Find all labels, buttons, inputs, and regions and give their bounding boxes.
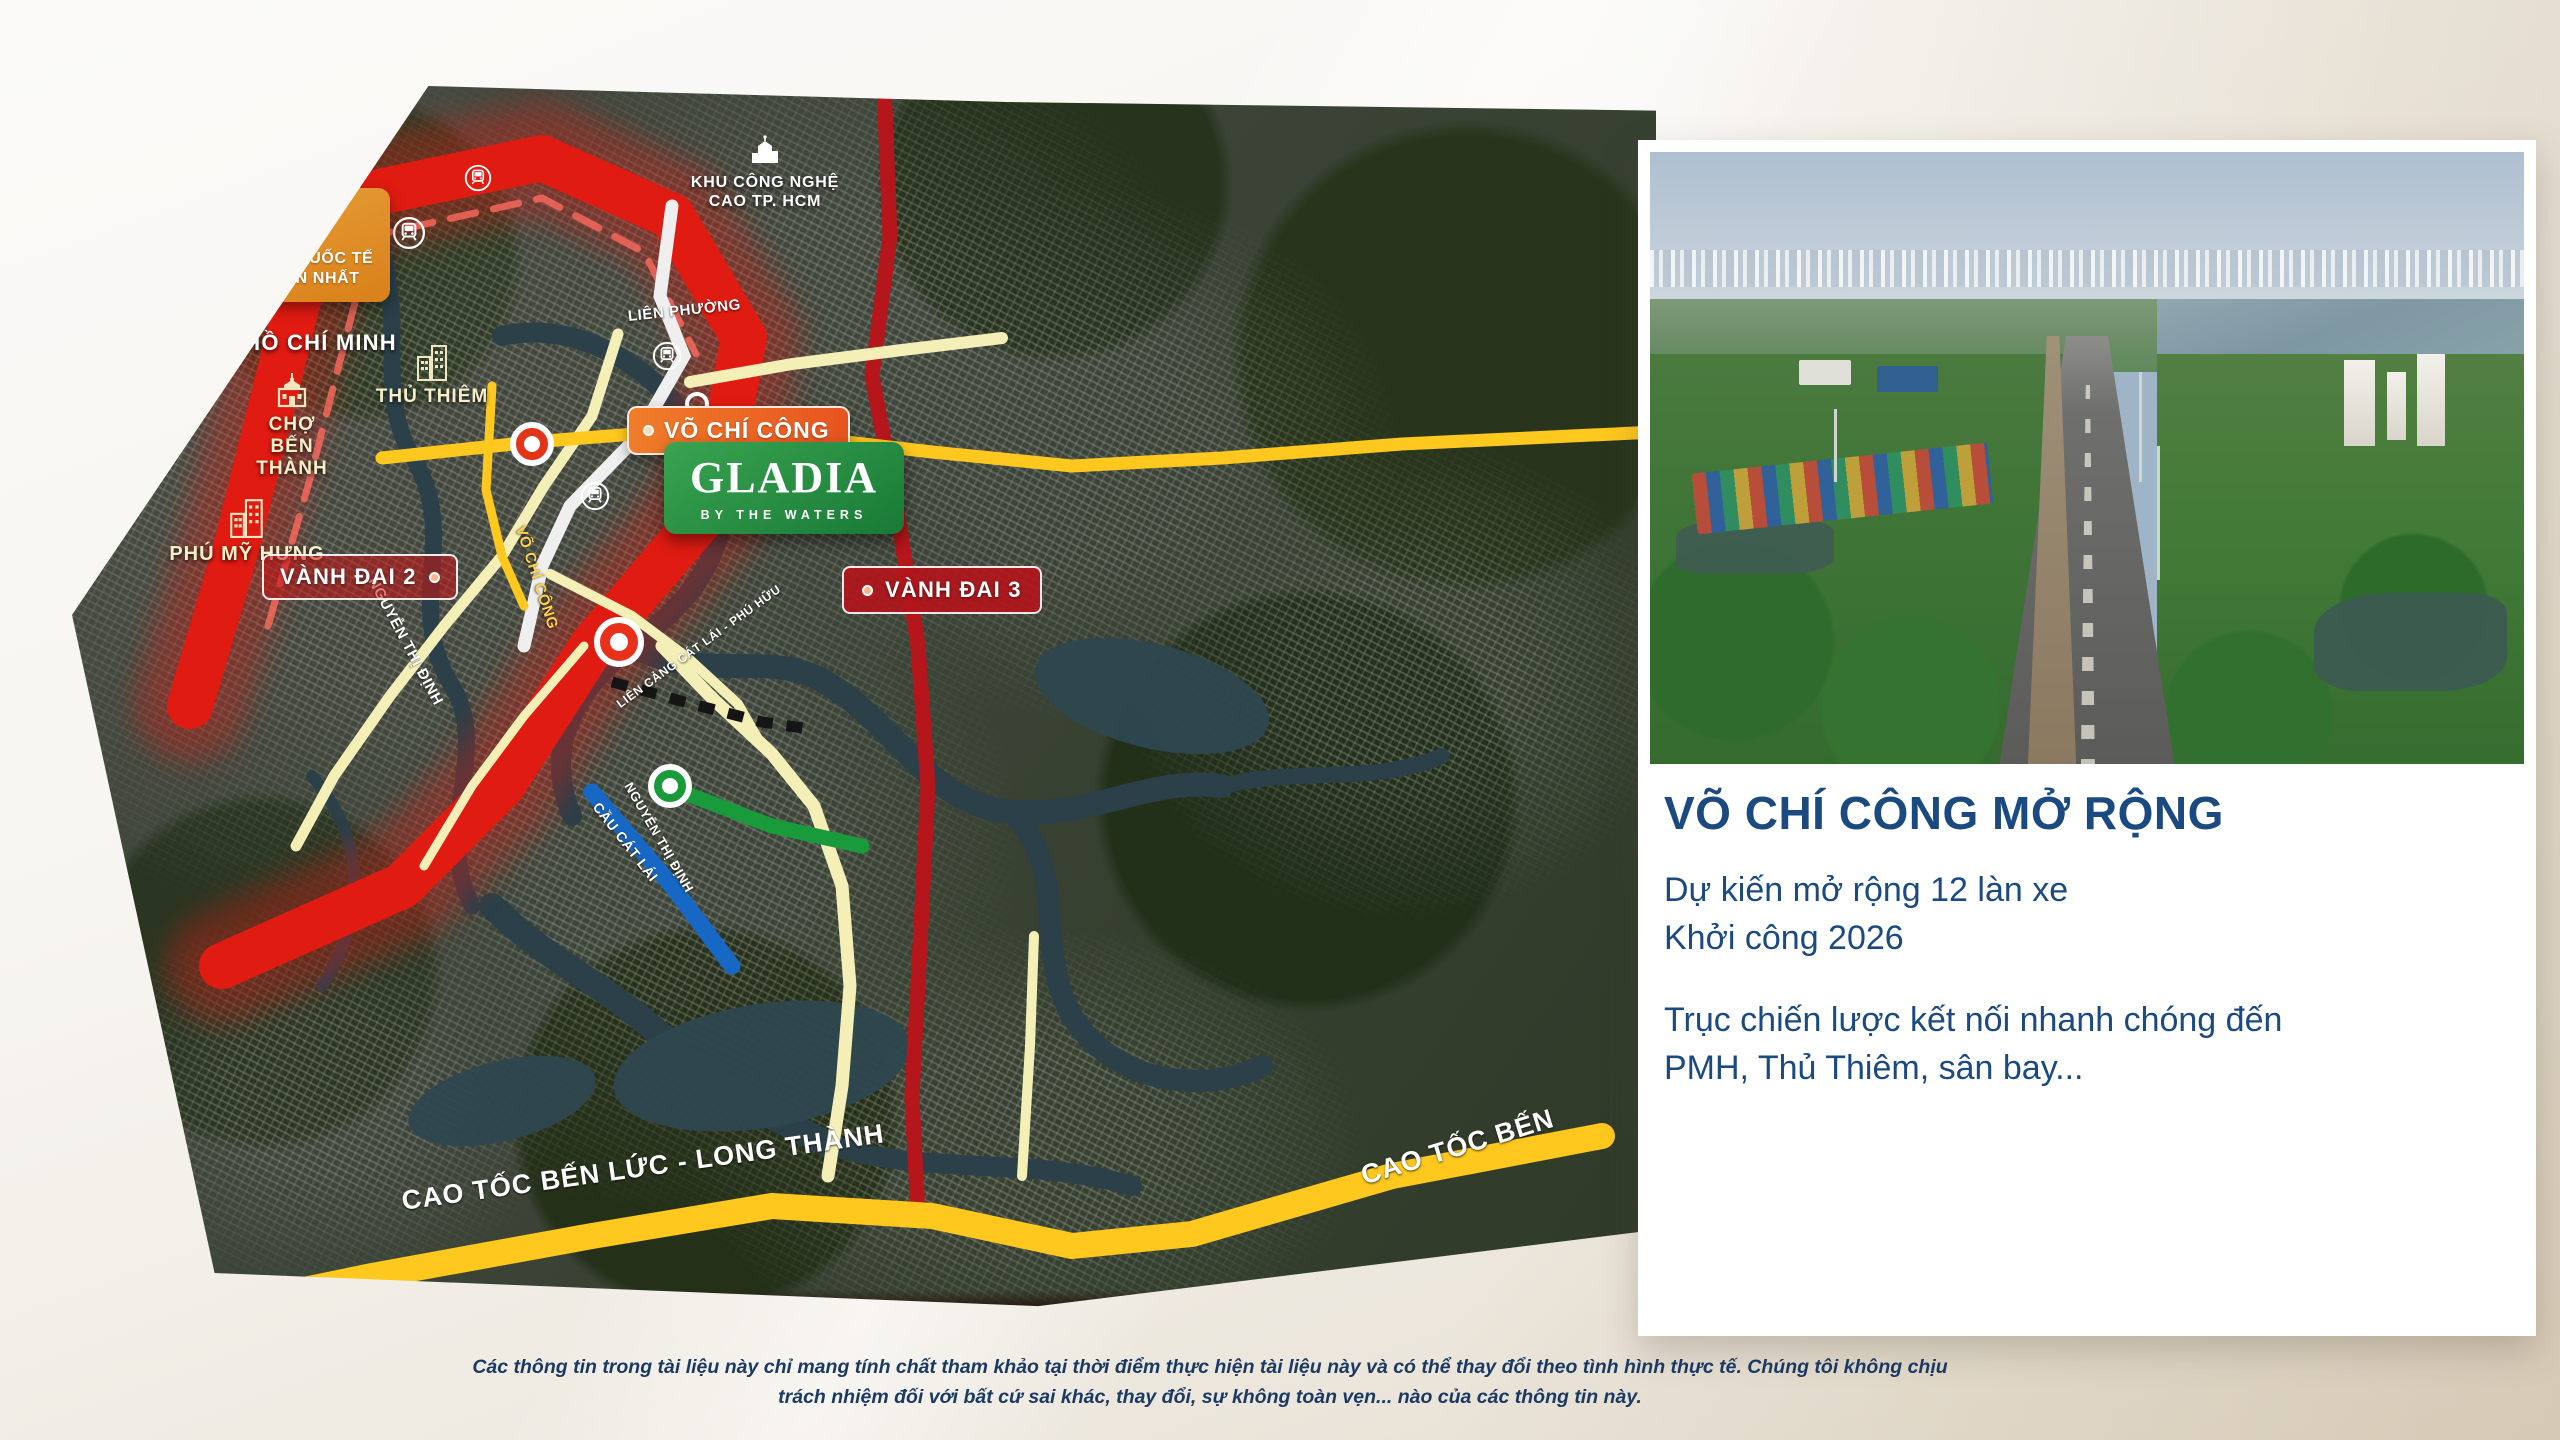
panel-line-start-year: Khởi công 2026: [1664, 914, 2510, 962]
gladia-title: GLADIA: [674, 456, 894, 500]
photo-tower: [2344, 360, 2375, 446]
gladia-subtitle: BY THE WATERS: [674, 508, 894, 522]
photo-pond-right: [2314, 593, 2506, 691]
callout-vanh-dai-3[interactable]: VÀNH ĐAI 3: [842, 566, 1042, 614]
skyscraper-icon: [410, 341, 454, 381]
photo-building-white: [1799, 360, 1851, 384]
panel-line-connection-1: Trục chiến lược kết nối nhanh chóng đến: [1664, 996, 2510, 1044]
place-khu-cong-nghe-cao: KHU CÔNG NGHỆ CAO TP. HCM: [680, 134, 850, 211]
photo-tower: [2417, 354, 2445, 446]
callout-vanh-dai-2[interactable]: VÀNH ĐAI 2: [262, 554, 458, 600]
photo-building-blue-roof: [1877, 366, 1938, 392]
panel-text-body: VÕ CHÍ CÔNG MỞ RỘNG Dự kiến mở rộng 12 l…: [1664, 788, 2510, 1093]
callout-dot-icon: [862, 585, 873, 596]
market-hall-icon: [272, 371, 312, 409]
callout-label-vanh-dai-2: VÀNH ĐAI 2: [280, 564, 417, 590]
disclaimer-line-1: Các thông tin trong tài liệu này chỉ man…: [330, 1352, 2090, 1382]
airport-label-line1: SÂN BAY QUỐC TẾ: [210, 249, 380, 269]
place-label-ben-thanh: BẾN THÀNH: [232, 436, 352, 480]
aerial-photo: [1650, 152, 2524, 764]
info-panel: VÕ CHÍ CÔNG MỞ RỘNG Dự kiến mở rộng 12 l…: [1638, 140, 2536, 1336]
location-map: NGUYỄN THỊ ĐỊNH NGUYỄN THỊ ĐỊNH VÕ CHÍ C…: [72, 86, 1656, 1316]
metro-station-icon: [580, 481, 610, 516]
skyscraper-icon: [223, 496, 271, 538]
factory-icon: [748, 134, 782, 168]
panel-line-connection-2: PMH, Thủ Thiêm, sân bay...: [1664, 1044, 2510, 1092]
gladia-brand-badge[interactable]: GLADIA BY THE WATERS: [664, 442, 904, 534]
panel-line-lanes: Dự kiến mở rộng 12 làn xe: [1664, 866, 2510, 914]
callout-label-vo-chi-cong: VÕ CHÍ CÔNG: [664, 417, 830, 444]
place-thu-thiem: THỦ THIÊM: [362, 341, 502, 408]
callout-dot-icon: [429, 572, 440, 583]
disclaimer: Các thông tin trong tài liệu này chỉ man…: [330, 1352, 2090, 1412]
airport-badge[interactable]: SÂN BAY QUỐC TẾ TÂN SƠN NHẤT: [200, 188, 390, 302]
terrain-edge: [72, 1290, 1656, 1316]
place-label-thu-thiem: THỦ THIÊM: [362, 386, 502, 408]
photo-sky: [1650, 152, 2524, 311]
photo-tower: [2387, 372, 2406, 439]
metro-station-icon: [392, 216, 426, 255]
highway-direction-arrow: [222, 1276, 268, 1316]
callout-label-vanh-dai-3: VÀNH ĐAI 3: [885, 577, 1022, 603]
panel-title: VÕ CHÍ CÔNG MỞ RỘNG: [1664, 788, 2510, 840]
callout-dot-icon: [643, 425, 654, 436]
airport-label-line2: TÂN SƠN NHẤT: [210, 269, 380, 289]
photo-utility-pole: [2157, 446, 2160, 581]
photo-utility-pole: [2139, 372, 2142, 482]
place-label-khu-cong-nghe: KHU CÔNG NGHỆ: [680, 173, 850, 192]
photo-green-right: [2157, 354, 2524, 764]
metro-station-icon: [652, 341, 682, 376]
map-terrain-block: NGUYỄN THỊ ĐỊNH NGUYỄN THỊ ĐỊNH VÕ CHÍ C…: [72, 86, 1656, 1316]
metro-station-icon: [464, 164, 492, 197]
photo-utility-pole: [1834, 409, 1837, 482]
disclaimer-line-2: trách nhiệm đối với bất cứ sai khác, tha…: [330, 1382, 2090, 1412]
place-label-cao-tp-hcm: CAO TP. HCM: [680, 192, 850, 211]
place-cho-ben-thanh: CHỢ BẾN THÀNH: [232, 371, 352, 480]
place-label-cho: CHỢ: [232, 414, 352, 436]
photo-skyline: [1650, 250, 2524, 287]
airplane-takeoff-icon: [256, 200, 334, 244]
